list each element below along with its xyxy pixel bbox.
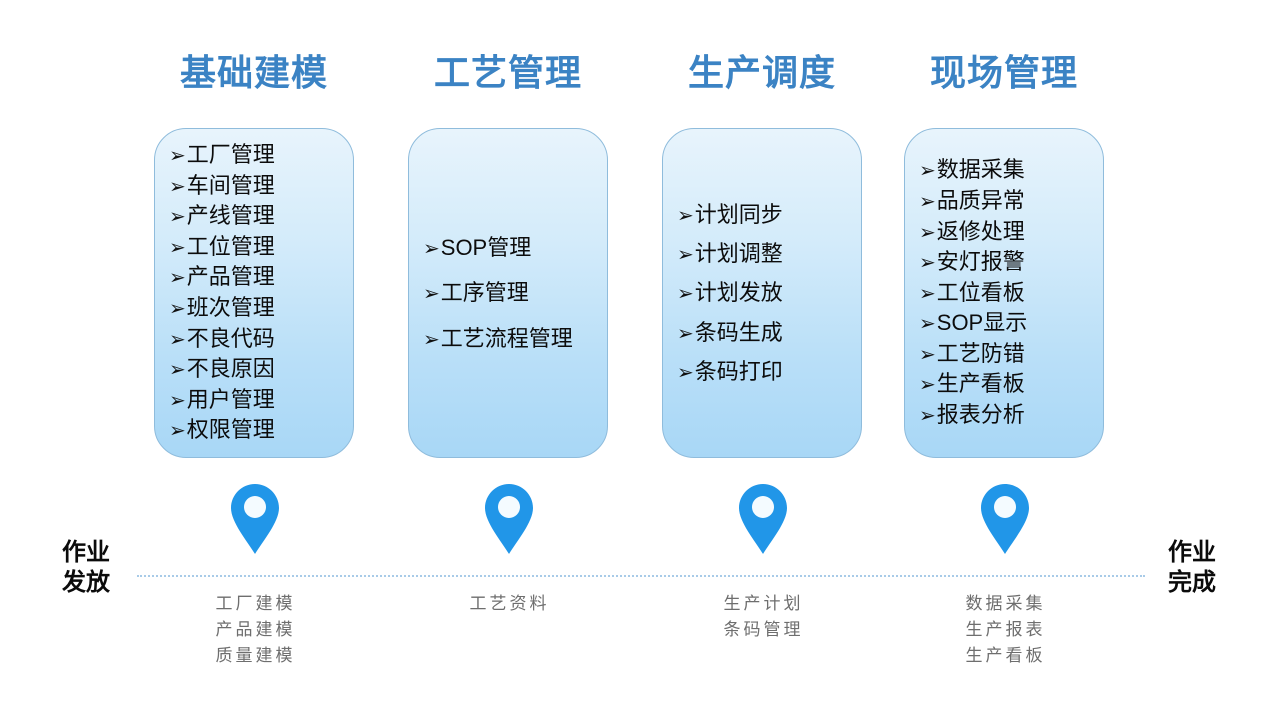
list-item-label: 工序管理 [441,270,529,315]
list-item-label: 工位管理 [187,232,275,263]
arrow-bullet-icon: ➢ [919,313,936,333]
arrow-bullet-icon: ➢ [423,329,440,349]
list-item-label: 不良代码 [187,324,275,355]
arrow-bullet-icon: ➢ [919,191,936,211]
column-heading-1: 基础建模 [128,50,380,96]
list-item[interactable]: ➢SOP管理 [423,225,607,270]
arrow-bullet-icon: ➢ [169,420,186,440]
list-item[interactable]: ➢产品管理 [169,262,353,293]
arrow-bullet-icon: ➢ [169,267,186,287]
stage-column-4: 现场管理 ➢数据采集 ➢品质异常 ➢返修处理 ➢安灯报警 ➢工位看板 ➢SOP显… [878,0,1130,720]
map-pin-icon-3 [736,481,790,557]
arrow-bullet-icon: ➢ [919,160,936,180]
list-item[interactable]: ➢工位管理 [169,232,353,263]
arrow-bullet-icon: ➢ [169,359,186,379]
list-item[interactable]: ➢数据采集 [919,155,1103,186]
timeline-start-label: 作业 发放 [46,538,126,598]
arrow-bullet-icon: ➢ [169,329,186,349]
arrow-bullet-icon: ➢ [169,176,186,196]
list-item[interactable]: ➢SOP显示 [919,308,1103,339]
list-item[interactable]: ➢不良原因 [169,354,353,385]
arrow-bullet-icon: ➢ [423,238,440,258]
arrow-bullet-icon: ➢ [677,205,694,225]
list-item[interactable]: ➢车间管理 [169,171,353,202]
timeline-dashed-line [137,575,1145,577]
list-item[interactable]: ➢权限管理 [169,415,353,446]
arrow-bullet-icon: ➢ [677,323,694,343]
list-item-label: 返修处理 [937,217,1025,248]
list-item[interactable]: ➢工序管理 [423,270,607,315]
list-item[interactable]: ➢品质异常 [919,186,1103,217]
stage-column-3: 生产调度 ➢计划同步 ➢计划调整 ➢计划发放 ➢条码生成 ➢条码打印 生产计划 … [636,0,888,720]
stage-note: 工厂建模 [128,591,380,617]
feature-list-2: ➢SOP管理 ➢工序管理 ➢工艺流程管理 [409,225,607,360]
list-item-label: 计划发放 [695,273,783,312]
list-item-label: 产品管理 [187,262,275,293]
column-heading-2: 工艺管理 [382,50,634,96]
arrow-bullet-icon: ➢ [169,298,186,318]
stage-note: 生产计划 [636,591,888,617]
stage-note: 数据采集 [878,591,1130,617]
list-item[interactable]: ➢计划发放 [677,273,861,312]
timeline-start-label-line2: 发放 [46,568,126,598]
list-item-label: 权限管理 [187,415,275,446]
stage-note: 生产看板 [878,643,1130,669]
stage-notes-4: 数据采集 生产报表 生产看板 [878,591,1130,669]
list-item[interactable]: ➢计划同步 [677,195,861,234]
arrow-bullet-icon: ➢ [169,206,186,226]
feature-card-3: ➢计划同步 ➢计划调整 ➢计划发放 ➢条码生成 ➢条码打印 [662,128,862,458]
arrow-bullet-icon: ➢ [169,390,186,410]
list-item[interactable]: ➢工艺防错 [919,339,1103,370]
arrow-bullet-icon: ➢ [919,344,936,364]
stage-notes-1: 工厂建模 产品建模 质量建模 [128,591,380,669]
stage-note: 产品建模 [128,617,380,643]
feature-list-1: ➢工厂管理 ➢车间管理 ➢产线管理 ➢工位管理 ➢产品管理 ➢班次管理 ➢不良代… [155,140,353,446]
list-item-label: 不良原因 [187,354,275,385]
list-item-label: 条码打印 [695,352,783,391]
stage-column-1: 基础建模 ➢工厂管理 ➢车间管理 ➢产线管理 ➢工位管理 ➢产品管理 ➢班次管理… [128,0,380,720]
list-item-label: 数据采集 [937,155,1025,186]
list-item-label: 工艺防错 [937,339,1025,370]
list-item[interactable]: ➢产线管理 [169,201,353,232]
list-item-label: 车间管理 [187,171,275,202]
arrow-bullet-icon: ➢ [919,222,936,242]
map-pin-icon-1 [228,481,282,557]
timeline-start-label-line1: 作业 [46,538,126,568]
feature-card-4: ➢数据采集 ➢品质异常 ➢返修处理 ➢安灯报警 ➢工位看板 ➢SOP显示 ➢工艺… [904,128,1104,458]
timeline-end-label-line1: 作业 [1152,538,1232,568]
stage-note: 生产报表 [878,617,1130,643]
stage-notes-3: 生产计划 条码管理 [636,591,888,643]
list-item[interactable]: ➢条码打印 [677,352,861,391]
diagram-canvas: 基础建模 ➢工厂管理 ➢车间管理 ➢产线管理 ➢工位管理 ➢产品管理 ➢班次管理… [0,0,1280,720]
list-item-label: 工艺流程管理 [441,316,573,361]
list-item[interactable]: ➢工位看板 [919,278,1103,309]
arrow-bullet-icon: ➢ [919,405,936,425]
map-pin-icon-2 [482,481,536,557]
list-item[interactable]: ➢安灯报警 [919,247,1103,278]
list-item[interactable]: ➢计划调整 [677,234,861,273]
arrow-bullet-icon: ➢ [919,374,936,394]
list-item-label: 工位看板 [937,278,1025,309]
list-item-label: 报表分析 [937,400,1025,431]
list-item-label: SOP管理 [441,225,531,270]
column-heading-4: 现场管理 [878,50,1130,96]
column-heading-3: 生产调度 [636,50,888,96]
list-item[interactable]: ➢返修处理 [919,217,1103,248]
list-item-label: SOP显示 [937,308,1027,339]
arrow-bullet-icon: ➢ [423,283,440,303]
arrow-bullet-icon: ➢ [677,283,694,303]
timeline-end-label-line2: 完成 [1152,568,1232,598]
stage-note: 条码管理 [636,617,888,643]
arrow-bullet-icon: ➢ [169,145,186,165]
stage-column-2: 工艺管理 ➢SOP管理 ➢工序管理 ➢工艺流程管理 工艺资料 [382,0,634,720]
stage-note: 质量建模 [128,643,380,669]
list-item-label: 安灯报警 [937,247,1025,278]
list-item[interactable]: ➢用户管理 [169,385,353,416]
stage-notes-2: 工艺资料 [382,591,634,617]
list-item-label: 产线管理 [187,201,275,232]
list-item-label: 计划同步 [695,195,783,234]
map-pin-icon-4 [978,481,1032,557]
list-item[interactable]: ➢条码生成 [677,313,861,352]
feature-list-3: ➢计划同步 ➢计划调整 ➢计划发放 ➢条码生成 ➢条码打印 [663,195,861,391]
list-item[interactable]: ➢不良代码 [169,324,353,355]
list-item[interactable]: ➢班次管理 [169,293,353,324]
list-item[interactable]: ➢报表分析 [919,400,1103,431]
list-item[interactable]: ➢生产看板 [919,369,1103,400]
arrow-bullet-icon: ➢ [677,362,694,382]
list-item-label: 工厂管理 [187,140,275,171]
list-item[interactable]: ➢工厂管理 [169,140,353,171]
list-item-label: 用户管理 [187,385,275,416]
timeline-end-label: 作业 完成 [1152,538,1232,598]
arrow-bullet-icon: ➢ [919,283,936,303]
arrow-bullet-icon: ➢ [677,244,694,264]
list-item-label: 班次管理 [187,293,275,324]
arrow-bullet-icon: ➢ [919,252,936,272]
feature-list-4: ➢数据采集 ➢品质异常 ➢返修处理 ➢安灯报警 ➢工位看板 ➢SOP显示 ➢工艺… [905,155,1103,430]
stage-note: 工艺资料 [382,591,634,617]
arrow-bullet-icon: ➢ [169,237,186,257]
list-item-label: 生产看板 [937,369,1025,400]
feature-card-1: ➢工厂管理 ➢车间管理 ➢产线管理 ➢工位管理 ➢产品管理 ➢班次管理 ➢不良代… [154,128,354,458]
feature-card-2: ➢SOP管理 ➢工序管理 ➢工艺流程管理 [408,128,608,458]
list-item[interactable]: ➢工艺流程管理 [423,316,607,361]
list-item-label: 计划调整 [695,234,783,273]
list-item-label: 品质异常 [937,186,1025,217]
list-item-label: 条码生成 [695,313,783,352]
